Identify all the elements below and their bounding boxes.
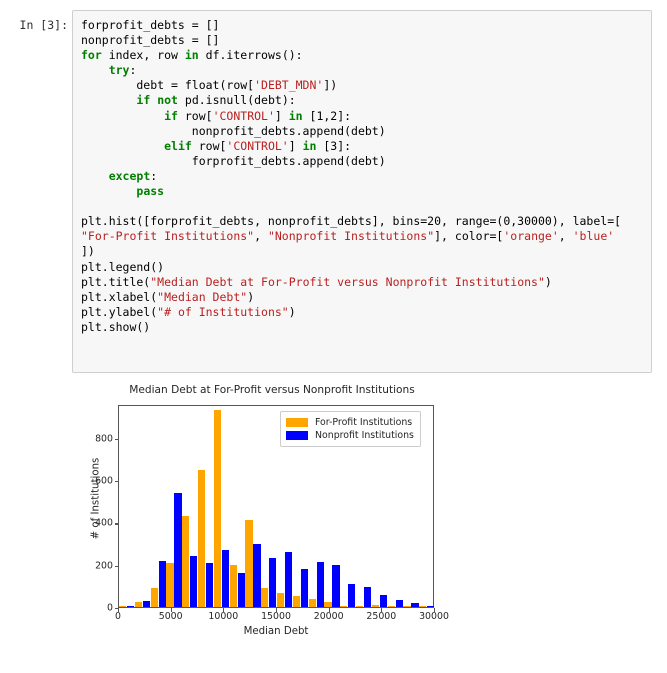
histogram-bar xyxy=(206,563,213,607)
histogram-bar xyxy=(301,569,308,607)
histogram-bar xyxy=(151,588,158,607)
histogram-bar xyxy=(309,599,316,607)
legend-swatch-nonprofit-icon xyxy=(286,431,308,440)
histogram-bar xyxy=(230,565,237,607)
histogram-bar xyxy=(182,516,189,607)
histogram-bar xyxy=(238,573,245,607)
x-axis-tick-labels: 050001000015000200002500030000 xyxy=(118,611,434,625)
legend-label-forprofit: For-Profit Institutions xyxy=(315,417,412,428)
x-axis-label: Median Debt xyxy=(118,626,434,637)
histogram-bar xyxy=(332,565,339,607)
histogram-bar xyxy=(253,544,260,607)
x-tick-label: 0 xyxy=(115,611,121,622)
histogram-bar xyxy=(285,552,292,607)
histogram-bar xyxy=(388,606,395,607)
histogram-bar xyxy=(159,561,166,607)
y-axis-label: # of Institutions xyxy=(91,429,102,569)
histogram-bar xyxy=(119,606,126,607)
histogram-bar xyxy=(143,601,150,607)
code-editor[interactable]: forprofit_debts = [] nonprofit_debts = [… xyxy=(72,10,652,373)
matplotlib-figure: Median Debt at For-Profit versus Nonprof… xyxy=(72,381,472,651)
histogram-bar xyxy=(293,596,300,607)
chart-legend: For-Profit Institutions Nonprofit Instit… xyxy=(280,411,421,447)
histogram-bar xyxy=(348,584,355,607)
chart-title: Median Debt at For-Profit versus Nonprof… xyxy=(72,384,472,396)
figure-output: Median Debt at For-Profit versus Nonprof… xyxy=(72,381,472,651)
histogram-bar xyxy=(372,605,379,607)
histogram-bar xyxy=(317,562,324,607)
legend-item-nonprofit: Nonprofit Institutions xyxy=(286,429,414,442)
histogram-bar xyxy=(324,602,331,607)
histogram-bar xyxy=(277,593,284,607)
histogram-bar xyxy=(364,587,371,607)
legend-label-nonprofit: Nonprofit Institutions xyxy=(315,430,414,441)
x-tick-label: 30000 xyxy=(419,611,449,622)
histogram-bar xyxy=(222,550,229,607)
histogram-bar xyxy=(269,558,276,607)
x-tick-label: 25000 xyxy=(366,611,396,622)
histogram-bar xyxy=(419,606,426,607)
histogram-bar xyxy=(403,606,410,607)
histogram-bar xyxy=(411,603,418,607)
histogram-bar xyxy=(340,606,347,607)
histogram-bar xyxy=(174,493,181,607)
x-tick-label: 5000 xyxy=(159,611,183,622)
histogram-bar xyxy=(214,410,221,607)
histogram-bar xyxy=(396,600,403,607)
histogram-bar xyxy=(166,563,173,607)
histogram-bar xyxy=(380,595,387,607)
histogram-bar xyxy=(135,602,142,607)
histogram-bar xyxy=(245,520,252,607)
x-tick-label: 20000 xyxy=(314,611,344,622)
x-tick-label: 10000 xyxy=(208,611,238,622)
legend-swatch-forprofit-icon xyxy=(286,418,308,427)
histogram-bar xyxy=(198,470,205,607)
histogram-bar xyxy=(261,588,268,607)
histogram-bar xyxy=(356,606,363,607)
code-source-text[interactable]: forprofit_debts = [] nonprofit_debts = [… xyxy=(81,18,621,335)
histogram-bar xyxy=(427,606,434,607)
x-tick-label: 15000 xyxy=(261,611,291,622)
legend-item-forprofit: For-Profit Institutions xyxy=(286,416,414,429)
histogram-bar xyxy=(127,606,134,607)
input-prompt-label: In [3]: xyxy=(8,18,68,32)
y-tick-label: 0 xyxy=(107,603,113,614)
histogram-bar xyxy=(190,556,197,607)
